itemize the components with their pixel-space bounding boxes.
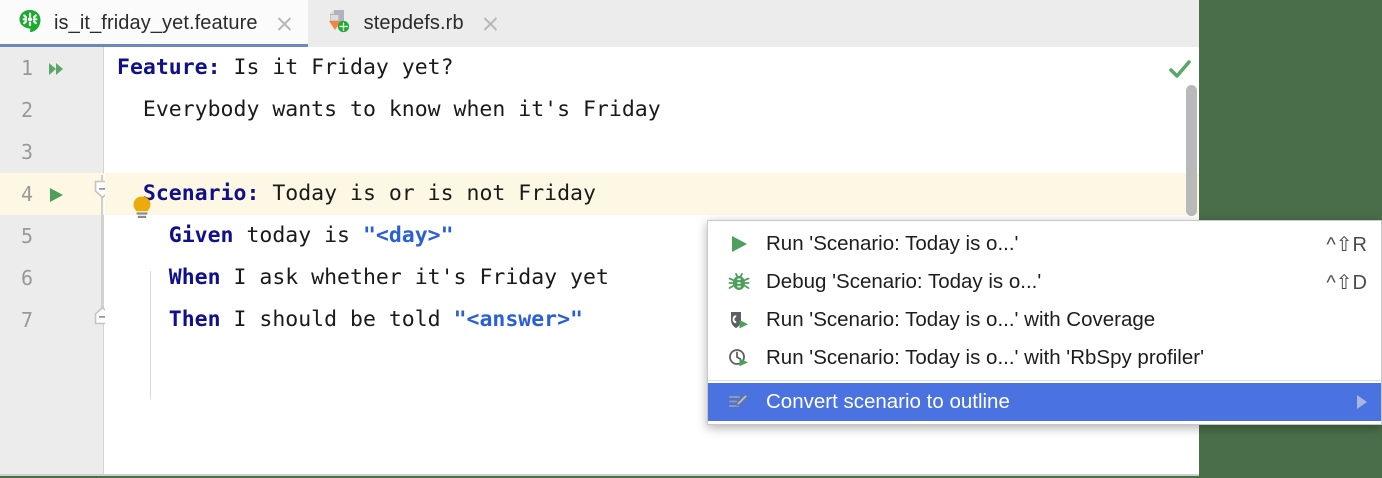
scrollbar-thumb[interactable] xyxy=(1186,85,1197,216)
tab-stepdefs-rb[interactable]: stepdefs.rb xyxy=(308,0,514,47)
code-line: Feature: Is it Friday yet? xyxy=(105,47,1199,89)
code-text: I ask whether it's Friday yet xyxy=(221,265,609,290)
menu-item-debug-scenario[interactable]: Debug 'Scenario: Today is o...' ^⇧D xyxy=(708,263,1381,301)
debug-bug-icon xyxy=(726,269,752,295)
code-text: Today is or is not Friday xyxy=(259,181,596,206)
convert-edit-pencil-icon xyxy=(726,389,752,415)
run-play-icon[interactable] xyxy=(46,185,66,205)
context-menu[interactable]: Run 'Scenario: Today is o...' ^⇧R xyxy=(707,220,1382,425)
code-line-caret: Scenario: Today is or is not Friday xyxy=(105,173,1199,215)
code-string: "<answer>" xyxy=(454,307,583,332)
menu-item-label: Run 'Scenario: Today is o...' xyxy=(766,232,1306,256)
gutter-row: 3 xyxy=(0,131,104,173)
cucumber-icon xyxy=(17,8,43,39)
editor-gutter[interactable]: 1 2 3 4 xyxy=(0,47,104,476)
gutter-row: 2 xyxy=(0,89,104,131)
code-text: Is it Friday yet? xyxy=(221,55,454,80)
gutter-row: 7 xyxy=(0,299,104,341)
gutter-row: 6 xyxy=(0,257,104,299)
gutter-row: 1 xyxy=(0,47,104,89)
run-play-icon xyxy=(726,231,752,257)
tab-label: stepdefs.rb xyxy=(364,12,464,35)
close-icon[interactable] xyxy=(275,14,294,33)
code-keyword: Given xyxy=(117,223,234,248)
line-number: 6 xyxy=(0,257,33,299)
tab-label: is_it_friday_yet.feature xyxy=(54,12,258,35)
menu-item-shortcut: ^⇧R xyxy=(1326,232,1367,257)
menu-separator xyxy=(708,380,1381,381)
line-number: 5 xyxy=(0,215,33,257)
line-number: 7 xyxy=(0,299,33,341)
menu-item-label: Debug 'Scenario: Today is o...' xyxy=(766,270,1306,294)
screen: is_it_friday_yet.feature xyxy=(0,0,1382,478)
code-string: "<day>" xyxy=(363,223,454,248)
gutter-row: 4 xyxy=(0,173,104,215)
menu-item-shortcut: ^⇧D xyxy=(1326,270,1367,295)
menu-item-label: Convert scenario to outline xyxy=(766,390,1339,414)
line-number: 1 xyxy=(0,47,33,89)
menu-item-run-scenario[interactable]: Run 'Scenario: Today is o...' ^⇧R xyxy=(708,225,1381,263)
menu-item-convert-scenario-to-outline[interactable]: Convert scenario to outline xyxy=(708,383,1381,421)
run-with-profiler-clock-icon xyxy=(726,345,752,371)
menu-item-run-with-profiler[interactable]: Run 'Scenario: Today is o...' with 'RbSp… xyxy=(708,339,1381,377)
indent-guide xyxy=(150,271,151,399)
ruby-cucumber-file-icon xyxy=(325,7,353,40)
code-text: Everybody wants to know when it's Friday xyxy=(105,97,661,122)
menu-item-label: Run 'Scenario: Today is o...' with Cover… xyxy=(766,308,1347,332)
code-keyword: Then xyxy=(117,307,221,332)
code-keyword: When xyxy=(117,265,221,290)
line-number: 2 xyxy=(0,89,33,131)
editor-tab-bar: is_it_friday_yet.feature xyxy=(0,0,1199,47)
code-line xyxy=(105,131,1199,173)
line-number: 3 xyxy=(0,131,33,173)
code-text: I should be told xyxy=(221,307,454,332)
code-text xyxy=(105,139,117,164)
code-keyword: Feature: xyxy=(117,55,221,80)
check-mark-icon[interactable] xyxy=(1168,58,1192,82)
tab-is-it-friday-yet-feature[interactable]: is_it_friday_yet.feature xyxy=(0,0,308,47)
run-all-double-chevron-icon[interactable] xyxy=(46,59,66,79)
lightbulb-icon[interactable] xyxy=(128,194,156,222)
menu-item-label: Run 'Scenario: Today is o...' with 'RbSp… xyxy=(766,346,1347,370)
editor-bottom-divider xyxy=(0,474,1199,476)
menu-item-run-with-coverage[interactable]: Run 'Scenario: Today is o...' with Cover… xyxy=(708,301,1381,339)
code-text: today is xyxy=(234,223,363,248)
run-with-coverage-shield-icon xyxy=(726,307,752,333)
code-line: Everybody wants to know when it's Friday xyxy=(105,89,1199,131)
close-icon[interactable] xyxy=(481,14,500,33)
line-number: 4 xyxy=(0,173,33,215)
chevron-right-icon xyxy=(1357,395,1367,409)
gutter-row: 5 xyxy=(0,215,104,257)
